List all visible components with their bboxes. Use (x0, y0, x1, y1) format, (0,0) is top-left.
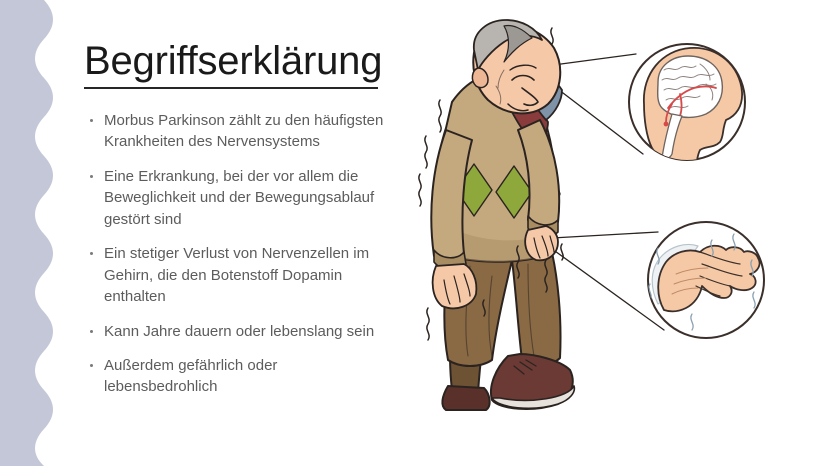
hand-inset (648, 222, 764, 338)
bullet-text: Außerdem gefährlich oder lebensbedrohlic… (104, 355, 388, 398)
bullet-dot-icon (90, 252, 93, 255)
bullet-dot-icon (90, 175, 93, 178)
leader-lines-hand (548, 232, 664, 330)
bullet-text: Kann Jahre dauern oder lebenslang sein (104, 321, 388, 342)
brain-inset (629, 44, 745, 169)
left-accent-band (0, 0, 70, 466)
list-item: Morbus Parkinson zählt zu den häufigsten… (88, 110, 388, 153)
far-hand (433, 264, 477, 308)
list-item: Ein stetiger Verlust von Nervenzellen im… (88, 243, 388, 307)
parkinson-illustration (400, 8, 828, 458)
bullet-text: Morbus Parkinson zählt zu den häufigsten… (104, 110, 388, 153)
page-title: Begriffserklärung (84, 40, 384, 83)
bullet-dot-icon (90, 330, 93, 333)
list-item: Eine Erkrankung, bei der vor allem die B… (88, 166, 388, 230)
title-underline (84, 87, 378, 89)
near-hand (525, 226, 558, 260)
bullet-text: Ein stetiger Verlust von Nervenzellen im… (104, 243, 388, 307)
slide: Begriffserklärung Morbus Parkinson zählt… (0, 0, 828, 466)
bullet-list: Morbus Parkinson zählt zu den häufigsten… (88, 110, 388, 398)
accent-band-shape (0, 0, 53, 466)
list-item: Kann Jahre dauern oder lebenslang sein (88, 321, 388, 342)
elderly-man-figure (431, 20, 574, 410)
far-shoe (442, 386, 489, 410)
bullet-text: Eine Erkrankung, bei der vor allem die B… (104, 166, 388, 230)
title-block: Begriffserklärung (84, 40, 384, 89)
bullet-dot-icon (90, 119, 93, 122)
list-item: Außerdem gefährlich oder lebensbedrohlic… (88, 355, 388, 398)
bullet-dot-icon (90, 364, 93, 367)
